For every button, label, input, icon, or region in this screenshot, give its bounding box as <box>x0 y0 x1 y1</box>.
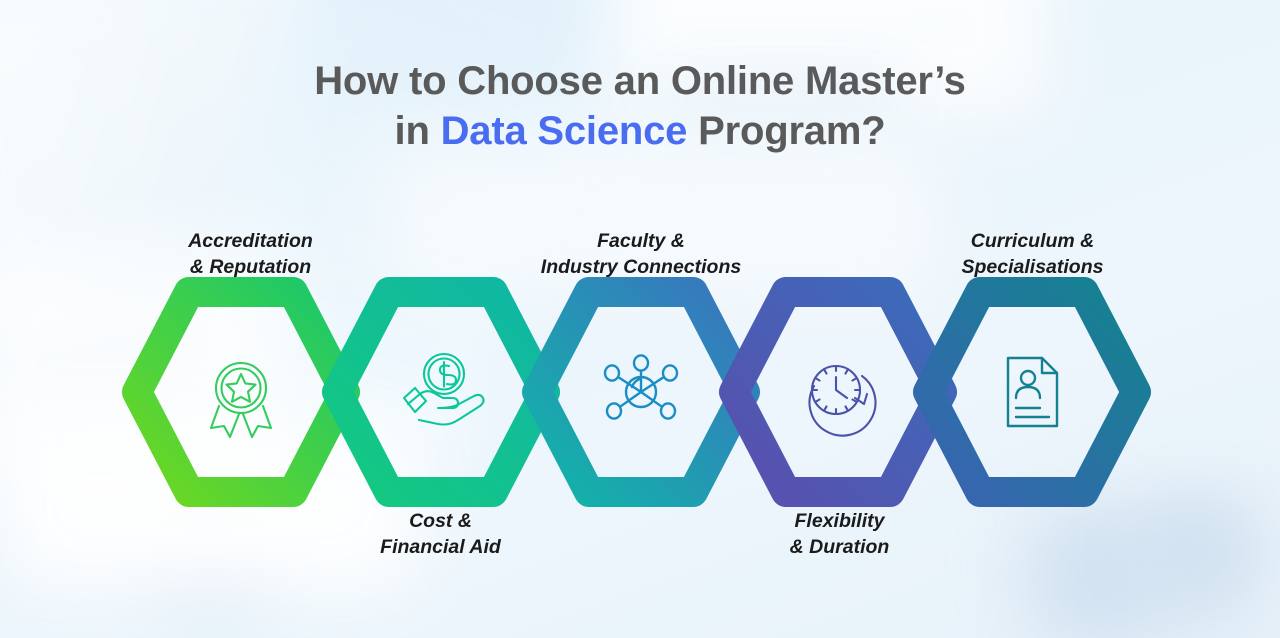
step-label-faculty: Faculty & Industry Connections <box>510 228 772 280</box>
title-line-1: How to Choose an Online Master’s <box>0 56 1280 106</box>
hexagon-curriculum[interactable] <box>928 292 1136 492</box>
infographic-canvas: How to Choose an Online Master’s in Data… <box>0 0 1280 638</box>
step-label-accreditation: Accreditation & Reputation <box>148 228 353 280</box>
award-medal-icon <box>211 363 271 437</box>
page-title: How to Choose an Online Master’s in Data… <box>0 56 1280 156</box>
network-nodes-icon <box>605 355 677 418</box>
step-label-flexibility: Flexibility & Duration <box>737 508 942 560</box>
resume-document-icon <box>1008 358 1057 426</box>
step-label-curriculum: Curriculum & Specialisations <box>930 228 1135 280</box>
hand-holding-coin-icon <box>404 354 484 425</box>
hexagon-accreditation[interactable] <box>137 292 345 492</box>
title-line-2-suffix: Program? <box>687 109 885 153</box>
step-label-cost: Cost & Financial Aid <box>338 508 543 560</box>
title-line-2: in Data Science Program? <box>0 106 1280 156</box>
hexagon-cost[interactable] <box>337 292 545 492</box>
title-line-2-prefix: in <box>395 109 441 153</box>
clock-rotate-icon <box>810 366 876 436</box>
title-highlight: Data Science <box>441 109 688 153</box>
